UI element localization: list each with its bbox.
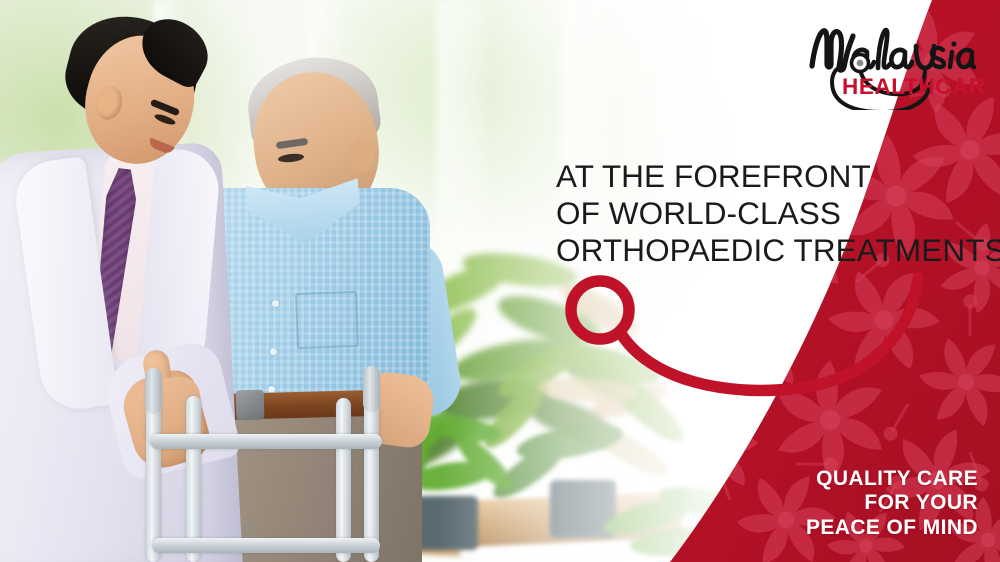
walker-crossbar-bottom (152, 538, 380, 553)
headline-line-2: OF WORLD-CLASS (556, 195, 996, 232)
logo-subtitle: HEALTHCARE (842, 74, 986, 99)
promotional-banner: QUALITY CARE FOR YOUR PEACE OF MIND AT T… (0, 0, 1000, 562)
patient-belt-buckle (236, 390, 265, 421)
tagline-line-1: QUALITY CARE (806, 467, 978, 492)
stethoscope-swoosh (540, 262, 960, 402)
tagline: QUALITY CARE FOR YOUR PEACE OF MIND (806, 467, 978, 541)
patient-shirt-button (272, 300, 279, 307)
headline: AT THE FOREFRONT OF WORLD-CLASS ORTHOPAE… (556, 158, 996, 269)
tagline-line-3: PEACE OF MIND (806, 516, 978, 541)
stethoscope-swoosh-icon (540, 262, 960, 402)
logo-wordmark-malaysia (812, 30, 974, 70)
malaysia-healthcare-logo[interactable]: HEALTHCARE (806, 22, 986, 110)
walker-grip-right (363, 366, 380, 412)
patient-shirt-button (270, 348, 277, 355)
headline-line-1: AT THE FOREFRONT (556, 158, 996, 195)
walker-crossbar-middle (150, 434, 382, 449)
tagline-line-2: FOR YOUR (806, 491, 978, 516)
walker-grip-left (145, 368, 162, 414)
logo-artwork: HEALTHCARE (806, 22, 986, 110)
patient-shirt-pocket (295, 291, 359, 349)
